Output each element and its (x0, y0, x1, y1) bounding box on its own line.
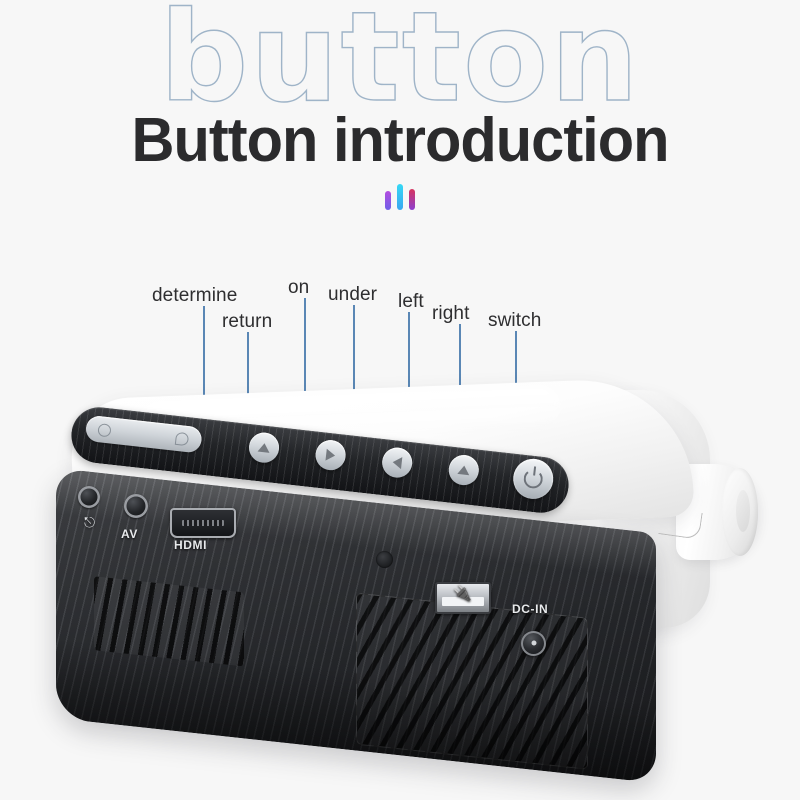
return-icon (175, 432, 189, 446)
dc-in-label: DC-IN (512, 602, 548, 616)
accent-bar-3 (409, 189, 415, 210)
lens-glass (736, 490, 750, 532)
triangle-up-icon-2 (457, 465, 470, 475)
button-right[interactable] (447, 454, 480, 487)
screenshot-root: button Button introduction determine ret… (0, 0, 800, 800)
accent-bar-2 (397, 184, 403, 210)
dc-in-port[interactable] (521, 631, 546, 656)
triangle-left-icon (392, 456, 402, 469)
power-icon (523, 468, 544, 489)
determine-return-pad[interactable] (85, 415, 203, 454)
callout-label-switch: switch (488, 310, 541, 332)
determine-icon (97, 423, 111, 437)
headphone-jack[interactable] (78, 486, 100, 508)
watermark-text: button (0, 0, 800, 120)
callout-label-return: return (222, 311, 272, 333)
button-left[interactable] (381, 446, 414, 479)
button-on[interactable] (247, 431, 280, 464)
headphone-icon: ⎋ (84, 515, 95, 529)
button-under[interactable] (314, 439, 347, 472)
callout-label-under: under (328, 284, 377, 306)
callout-label-on: on (288, 277, 309, 299)
triangle-up-icon (258, 443, 271, 453)
projector-device: ⎋ AV HDMI 🔌 DC-IN (0, 360, 800, 760)
triangle-right-icon (325, 449, 335, 462)
power-switch-button[interactable] (511, 457, 555, 501)
callout-label-right: right (432, 303, 469, 325)
callout-label-determine: determine (152, 285, 237, 307)
usb-icon: 🔌 (453, 586, 472, 601)
hdmi-port[interactable] (170, 508, 236, 538)
accent-bars (0, 182, 800, 210)
av-jack[interactable] (124, 494, 148, 518)
hdmi-label: HDMI (174, 538, 207, 552)
ir-sensor (376, 551, 393, 568)
accent-bar-1 (385, 191, 391, 210)
callout-label-left: left (398, 291, 424, 313)
page-title: Button introduction (16, 110, 784, 172)
av-label: AV (121, 527, 138, 541)
